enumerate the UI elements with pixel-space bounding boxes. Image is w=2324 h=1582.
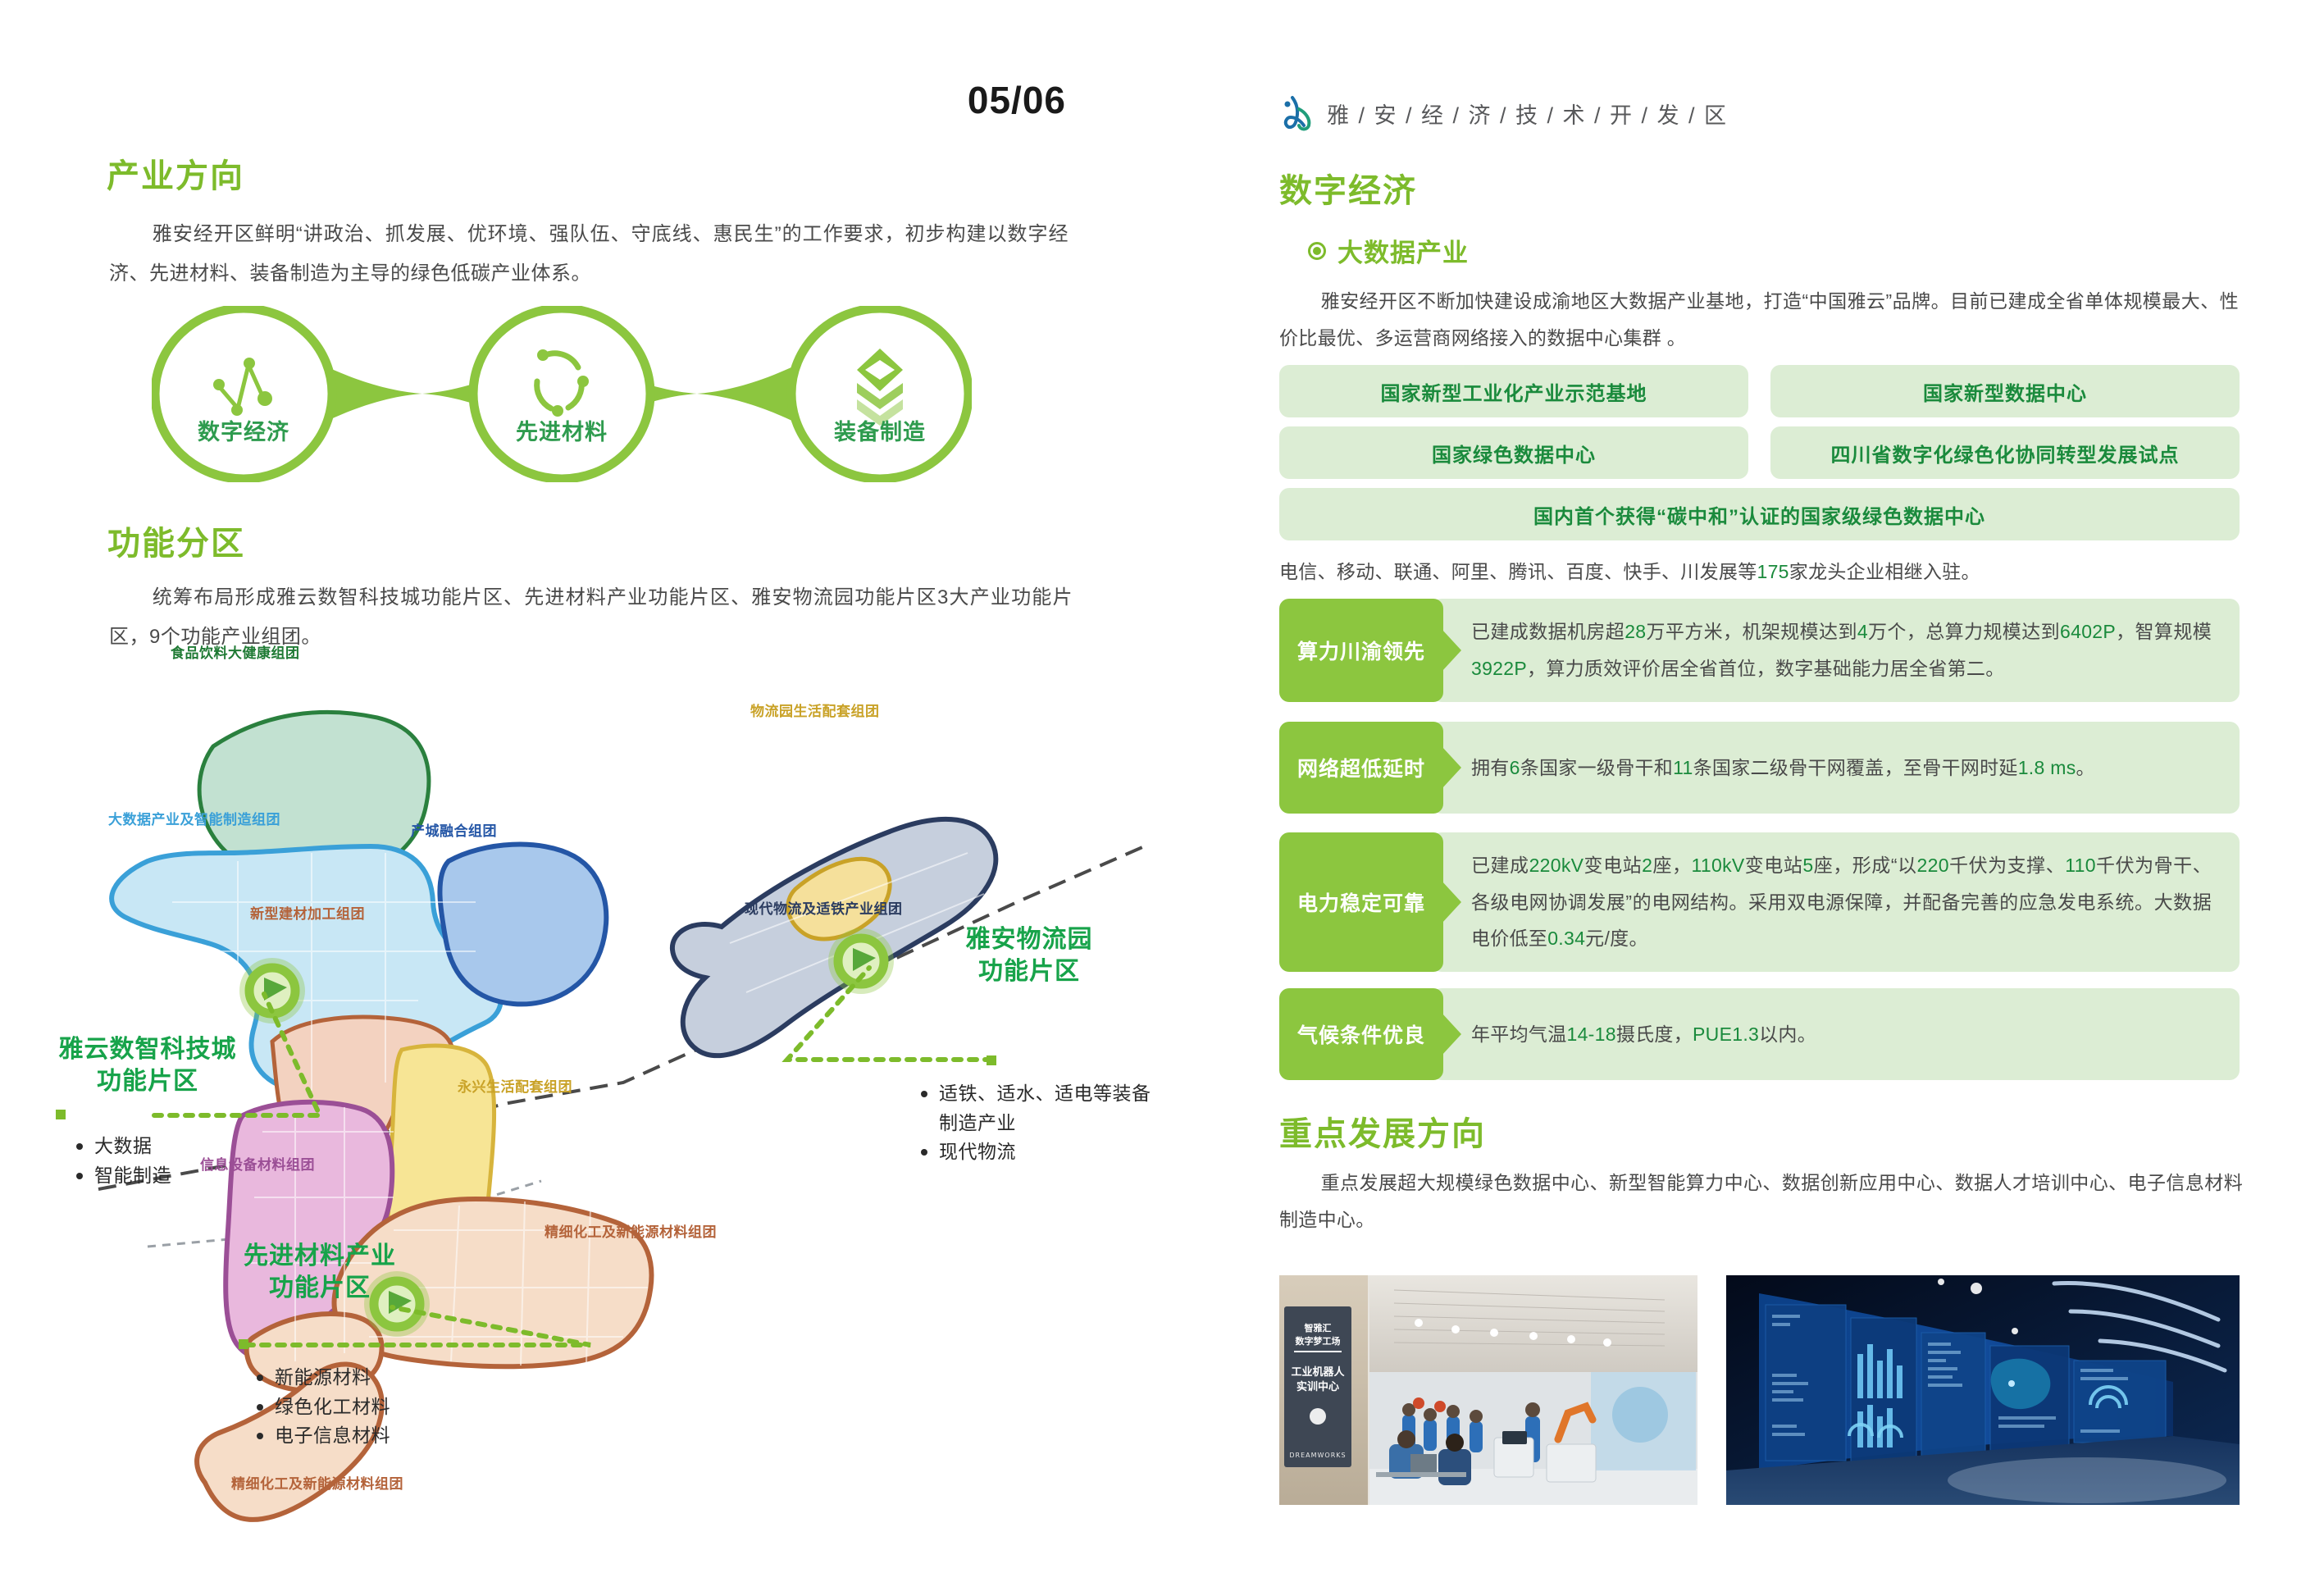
body-text: 变电站	[1745, 855, 1803, 876]
highlight-value: 5	[1802, 855, 1813, 876]
map-label-fine-chemical-new-energy-lower: 精细化工及新能源材料组团	[231, 1472, 403, 1493]
zone-bullets-yaan-logistics-park: 适铁、适水、适电等装备制造产业 现代物流	[914, 1079, 1169, 1167]
pillar-label-advanced-materials: 先进材料	[472, 414, 652, 446]
feature-row-climate: 气候条件优良 年平均气温14-18摄氏度，PUE1.3以内。	[1279, 988, 2240, 1080]
badge-sichuan-digital-green-pilot: 四川省数字化绿色化协同转型发展试点	[1770, 426, 2240, 479]
left-page: 05/06 产业方向 雅安经开区鲜明“讲政治、抓发展、优环境、强队伍、守底线、惠…	[0, 0, 1193, 1582]
feature-body-power-stability: 已建成220kV变电站2座，110kV变电站5座，形成“以220千伏为支撑、11…	[1432, 832, 2240, 972]
highlight-value: 110	[2065, 855, 2096, 876]
map-label-bigdata-intelligent-manufacturing: 大数据产业及智能制造组团	[108, 808, 280, 828]
right-page: 雅 / 安 / 经 / 济 / 技 / 术 / 开 / 发 / 区 数字经济 大…	[1193, 0, 2324, 1582]
highlight-value: 11	[1673, 757, 1693, 778]
map-label-food-beverage-health: 食品饮料大健康组团	[171, 641, 300, 662]
list-item: 电子信息材料	[250, 1421, 390, 1451]
zone-bullets-advanced-materials: 新能源材料 绿色化工材料 电子信息材料	[250, 1363, 390, 1451]
leader-marker-zone3	[987, 1055, 996, 1065]
list-item: 大数据	[70, 1132, 171, 1161]
leader-marker-zone2	[239, 1339, 248, 1349]
body-text: 已建成数据机房超	[1471, 621, 1625, 642]
bigdata-paragraph: 雅安经开区不断加快建设成渝地区大数据产业基地，打造“中国雅云”品牌。目前已建成全…	[1279, 283, 2239, 357]
body-text: 摄氏度，	[1616, 1024, 1693, 1045]
body-text: ，算力质效评价居全省首位，数字基础能力居全省第二。	[1527, 658, 2005, 679]
highlight-value: 110kV	[1692, 855, 1745, 876]
svg-text:工业机器人: 工业机器人	[1291, 1365, 1345, 1379]
bullet-ring-icon	[1308, 242, 1326, 260]
map-label-yongxing-living: 永兴生活配套组团	[458, 1075, 572, 1096]
badge-national-new-datacenter: 国家新型数据中心	[1770, 365, 2240, 417]
highlight-value: 0.34	[1547, 928, 1585, 949]
body-text: 元/度。	[1585, 928, 1648, 949]
body-text: 条国家一级骨干和	[1520, 757, 1673, 778]
feature-body-low-latency: 拥有6条国家一级骨干和11条国家二级骨干网覆盖，至骨干网时延1.8 ms。	[1432, 722, 2240, 814]
feature-row-compute-power: 算力川渝领先 已建成数据机房超28万平方米，机架规模达到4万个，总算力规模达到6…	[1279, 599, 2240, 702]
enterprise-suffix: 家龙头企业相继入驻。	[1789, 561, 1980, 582]
map-label-fine-chemical-new-energy-upper: 精细化工及新能源材料组团	[545, 1220, 717, 1241]
body-text: ，智算规模	[2116, 621, 2212, 642]
pillar-label-equipment-manufacturing: 装备制造	[790, 414, 970, 446]
body-text: 千伏为支撑、	[1949, 855, 2065, 876]
svg-text:智雅汇: 智雅汇	[1305, 1322, 1332, 1334]
list-item: 现代物流	[914, 1137, 1169, 1167]
body-text: 座，	[1652, 855, 1691, 876]
highlight-value: 220	[1917, 855, 1949, 876]
page-number: 05/06	[968, 78, 1066, 122]
highlight-value: 3922P	[1471, 658, 1527, 679]
body-text: 拥有	[1471, 757, 1510, 778]
body-text: 以内。	[1759, 1024, 1816, 1045]
subsection-header-bigdata: 大数据产业	[1308, 232, 1469, 269]
pillar-label-digital-economy: 数字经济	[153, 414, 334, 446]
body-text: 座，形成“以	[1813, 855, 1916, 876]
zone-title-yaan-logistics-park: 雅安物流园 功能片区	[898, 923, 1160, 987]
brochure-spread: 05/06 产业方向 雅安经开区鲜明“讲政治、抓发展、优环境、强队伍、守底线、惠…	[0, 0, 2324, 1582]
map-label-information-equipment-materials: 信息设备材料组团	[200, 1153, 315, 1174]
highlight-value: 4	[1857, 621, 1868, 642]
highlight-value: 6	[1510, 757, 1520, 778]
highlight-value: 14-18	[1567, 1024, 1616, 1045]
feature-row-low-latency: 网络超低延时 拥有6条国家一级骨干和11条国家二级骨干网覆盖，至骨干网时延1.8…	[1279, 722, 2240, 814]
brand-bar: 雅 / 安 / 经 / 济 / 技 / 术 / 开 / 发 / 区	[1279, 94, 1728, 132]
industry-pillars-diagram: 数字经济 先进材料 装备制造	[152, 306, 972, 482]
body-text: 已建成	[1471, 855, 1529, 876]
highlight-value: 1.8 ms	[2018, 757, 2076, 778]
zone-title-advanced-materials: 先进材料产业 功能片区	[189, 1240, 451, 1304]
highlight-value: PUE1.3	[1693, 1024, 1759, 1045]
body-text: 。	[2076, 757, 2095, 778]
zone-bullets-yayun-smart-tech-city: 大数据 智能制造	[70, 1132, 171, 1190]
page-title-digital-economy: 数字经济	[1279, 164, 1417, 212]
svg-text:DREAMWORKS: DREAMWORKS	[1289, 1452, 1346, 1459]
feature-body-climate: 年平均气温14-18摄氏度，PUE1.3以内。	[1432, 988, 2240, 1080]
list-item: 适铁、适水、适电等装备制造产业	[914, 1079, 1169, 1137]
badge-first-carbon-neutral-certified: 国内首个获得“碳中和”认证的国家级绿色数据中心	[1279, 488, 2240, 540]
feature-tab-label: 电力稳定可靠	[1279, 832, 1443, 972]
feature-tab-label: 算力川渝领先	[1279, 599, 1443, 702]
list-item: 新能源材料	[250, 1363, 390, 1393]
key-development-paragraph: 重点发展超大规模绿色数据中心、新型智能算力中心、数据创新应用中心、数据人才培训中…	[1279, 1165, 2243, 1238]
badge-national-industrialization-demo: 国家新型工业化产业示范基地	[1279, 365, 1748, 417]
body-text: 条国家二级骨干网覆盖，至骨干网时延	[1693, 757, 2018, 778]
highlight-value: 6402P	[2060, 621, 2116, 642]
data-control-room-photo	[1726, 1275, 2240, 1505]
yaan-logo-icon	[1279, 94, 1315, 132]
feature-row-power-stability: 电力稳定可靠 已建成220kV变电站2座，110kV变电站5座，形成“以220千…	[1279, 832, 2240, 972]
body-text: 万个，总算力规模达到	[1868, 621, 2060, 642]
section-title-key-development: 重点发展方向	[1279, 1107, 1486, 1155]
section-title-functional-zoning: 功能分区	[107, 517, 245, 564]
list-item: 绿色化工材料	[250, 1393, 390, 1422]
enterprise-prefix: 电信、移动、联通、阿里、腾讯、百度、快手、川发展等	[1279, 561, 1757, 582]
feature-tab-label: 网络超低延时	[1279, 722, 1443, 814]
badge-national-green-datacenter: 国家绿色数据中心	[1279, 426, 1748, 479]
map-label-modern-logistics-rail: 现代物流及适铁产业组团	[745, 897, 903, 918]
highlight-value: 2	[1642, 855, 1652, 876]
svg-text:实训中心: 实训中心	[1296, 1380, 1339, 1393]
svg-text:数字梦工场: 数字梦工场	[1296, 1335, 1341, 1347]
body-text: 万平方米，机架规模达到	[1646, 621, 1857, 642]
leader-marker-zone1	[56, 1110, 66, 1119]
body-text: 年平均气温	[1471, 1024, 1567, 1045]
zone-title-yayun-smart-tech-city: 雅云数智科技城 功能片区	[16, 1033, 279, 1097]
list-item: 智能制造	[70, 1161, 171, 1191]
enterprise-line: 电信、移动、联通、阿里、腾讯、百度、快手、川发展等175家龙头企业相继入驻。	[1279, 554, 2243, 590]
subsection-title: 大数据产业	[1337, 232, 1469, 269]
map-label-logistics-park-living: 物流园生活配套组团	[750, 700, 880, 720]
section-title-industry-direction: 产业方向	[107, 149, 244, 197]
map-label-new-building-materials: 新型建材加工组团	[250, 902, 365, 923]
feature-tab-label: 气候条件优良	[1279, 988, 1443, 1080]
functional-zoning-map: 食品饮料大健康组团 大数据产业及智能制造组团 产城融合组团 物流园生活配套组团 …	[49, 656, 1181, 1525]
highlight-value: 220kV	[1529, 855, 1584, 876]
brand-name: 雅 / 安 / 经 / 济 / 技 / 术 / 开 / 发 / 区	[1327, 98, 1728, 130]
feature-body-compute-power: 已建成数据机房超28万平方米，机架规模达到4万个，总算力规模达到6402P，智算…	[1432, 599, 2240, 702]
enterprise-count: 175	[1757, 561, 1789, 582]
map-label-industry-city-integration: 产城融合组团	[411, 819, 497, 840]
highlight-value: 28	[1625, 621, 1646, 642]
robot-training-center-photo: 智雅汇 数字梦工场 工业机器人 实训中心 DREAMWORKS	[1279, 1275, 1697, 1505]
industry-direction-paragraph: 雅安经开区鲜明“讲政治、抓发展、优环境、强队伍、守底线、惠民生”的工作要求，初步…	[109, 215, 1069, 294]
body-text: 变电站	[1584, 855, 1642, 876]
